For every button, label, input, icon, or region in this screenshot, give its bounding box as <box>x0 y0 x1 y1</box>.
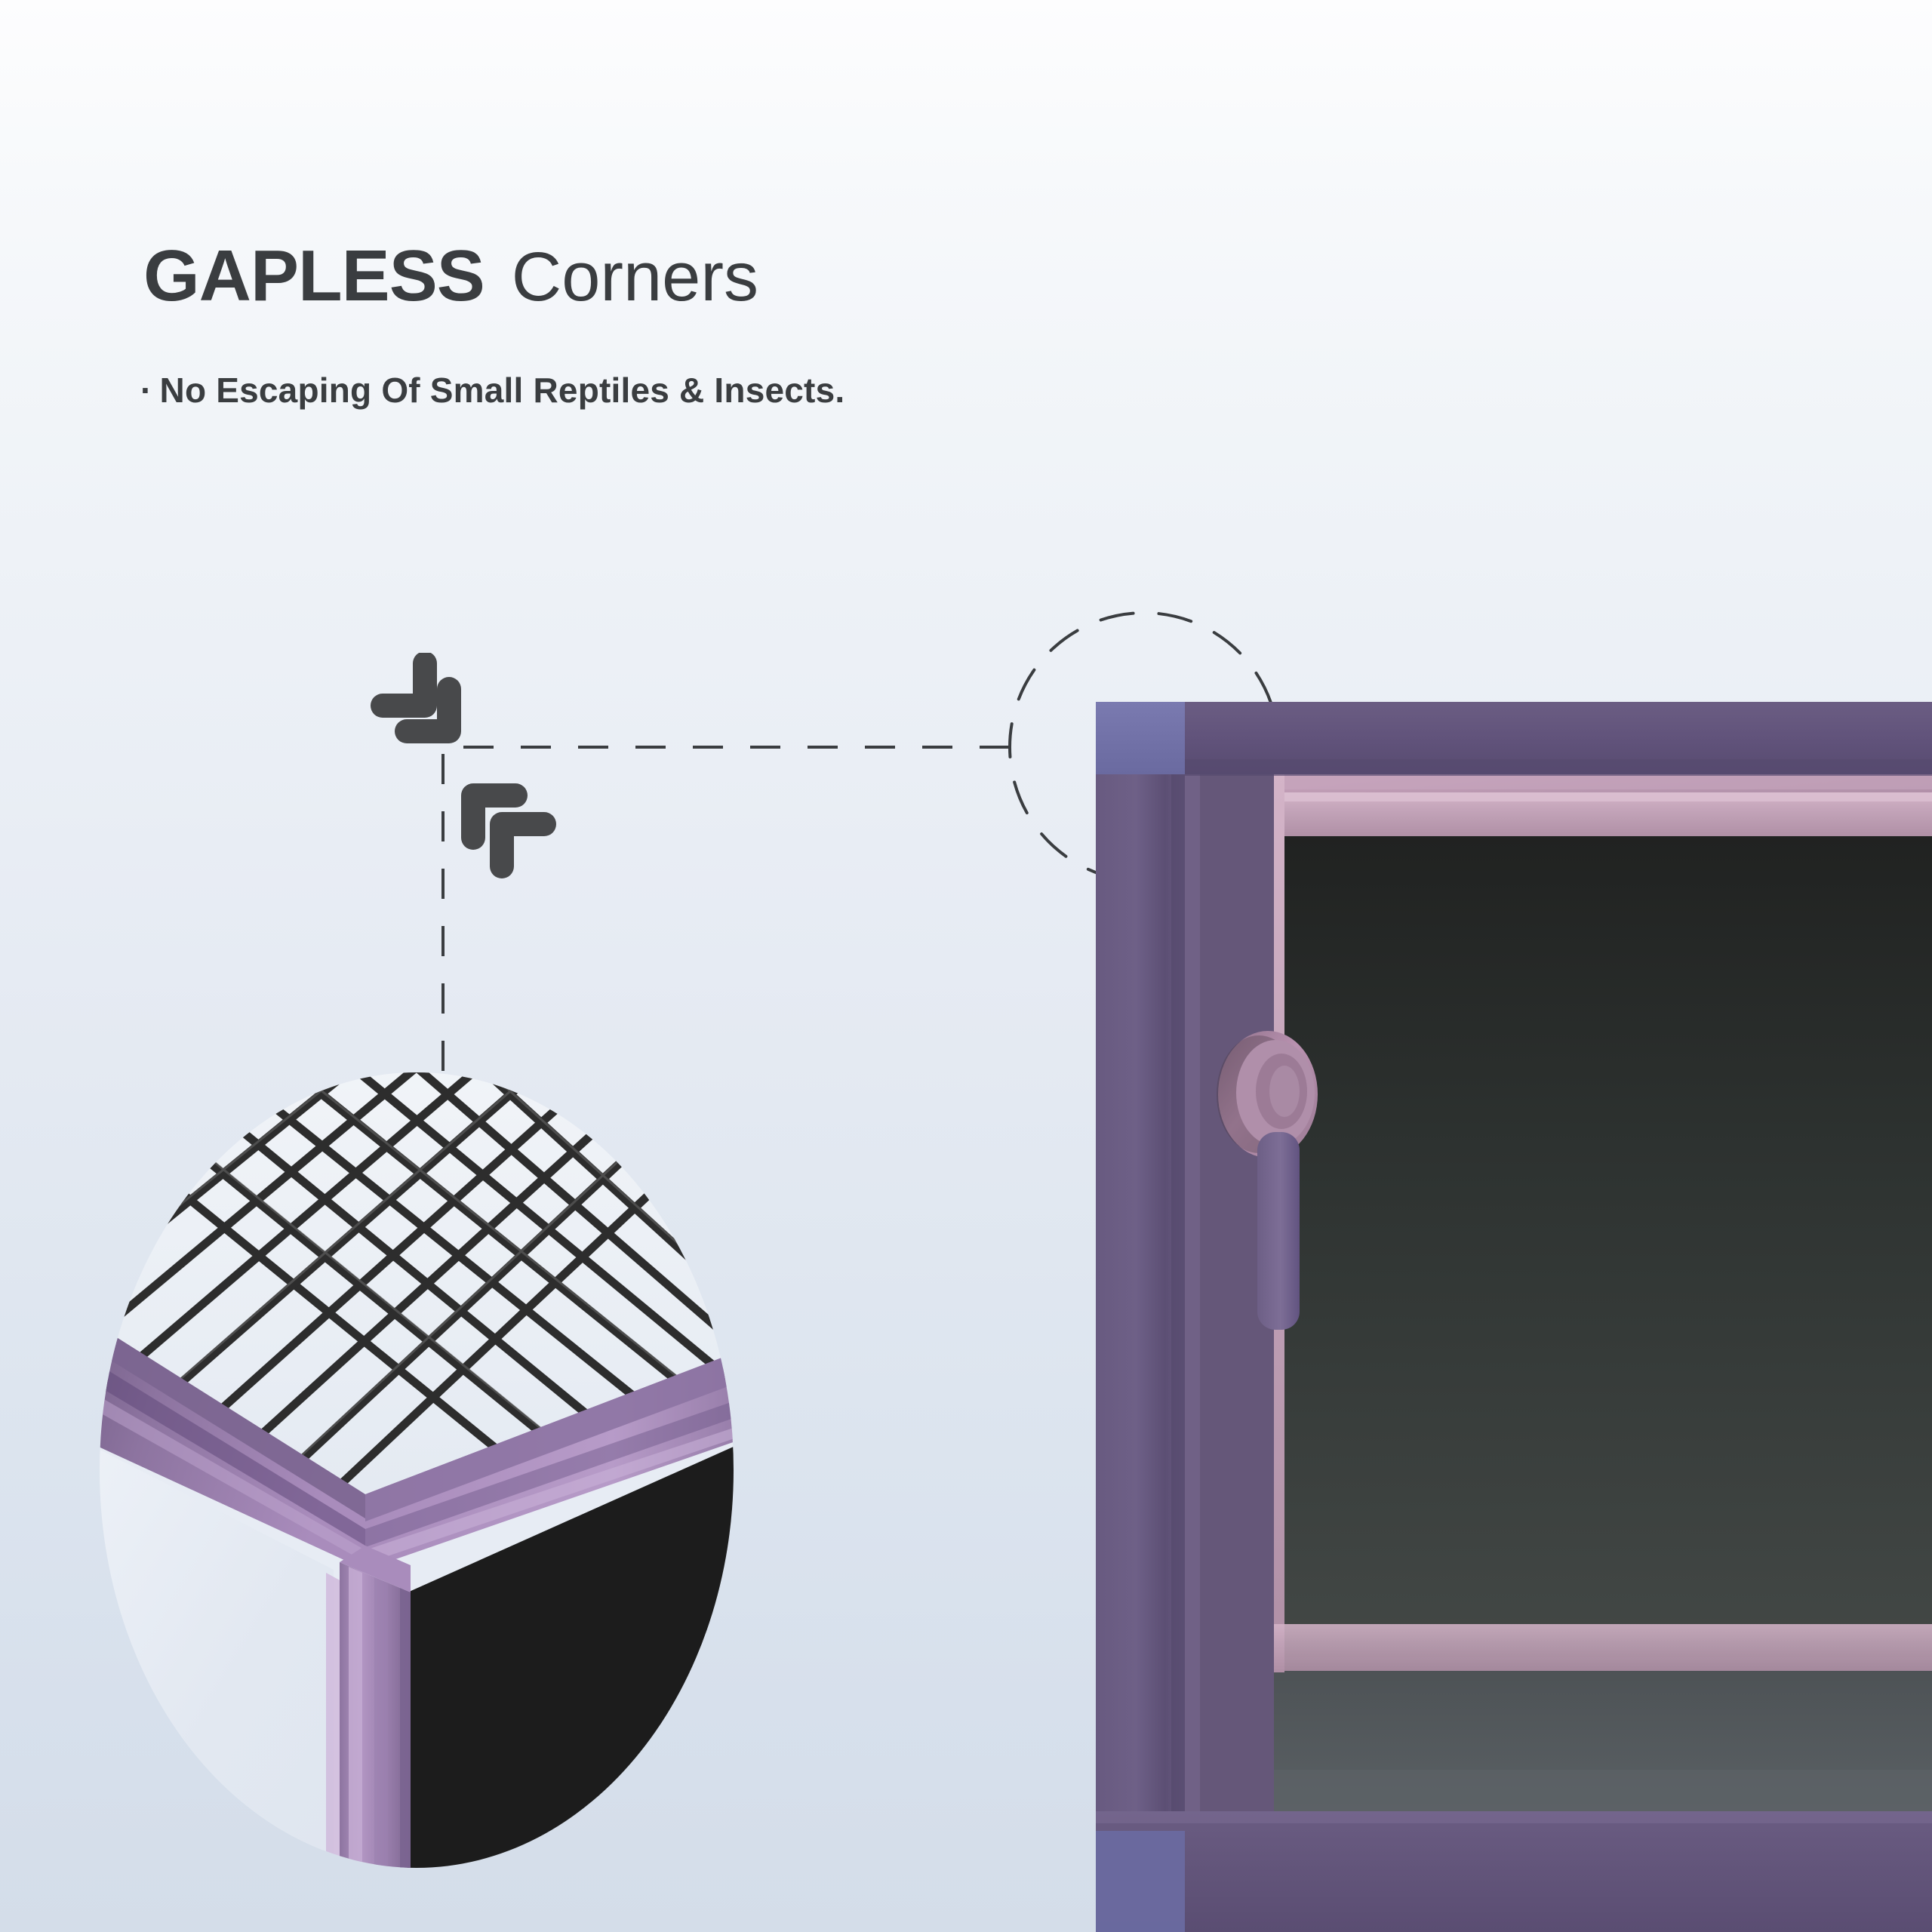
corner-bracket-pair-lower <box>457 777 585 894</box>
inner-frame-top-rail-highlight <box>1284 792 1932 801</box>
enclosure-floor-front-band <box>1185 1770 1932 1811</box>
detail-corner-post-hl1 <box>349 1567 362 1868</box>
corner-bracket-top-left-icon-offset <box>502 824 544 866</box>
outer-frame-bottom-rail-bevel <box>1096 1811 1932 1823</box>
corner-bracket-pair-upper <box>366 653 494 762</box>
outer-frame-left-post-edge <box>1171 702 1185 1932</box>
latch-lever-arm[interactable] <box>1257 1132 1300 1330</box>
product-feature-slide: GAPLESSCorners ·No Escaping Of Small Rep… <box>0 0 1932 1932</box>
latch-rosette-hub <box>1269 1066 1300 1117</box>
enclosure-interior-backwall <box>1269 774 1932 1657</box>
detail-corner-post-hl2 <box>374 1577 388 1868</box>
corner-block-top-left <box>1096 702 1185 774</box>
corner-bracket-bottom-right-icon <box>383 663 425 706</box>
detail-corner-post-edge <box>400 1588 411 1868</box>
outer-frame-bottom-rail <box>1096 1811 1932 1932</box>
gapless-corner-detail <box>100 1072 734 1868</box>
outer-frame-top-rail-bevel <box>1185 759 1932 776</box>
corner-block-bottom-left <box>1096 1831 1185 1932</box>
reptile-enclosure <box>1096 702 1932 1932</box>
inner-frame-bottom-rail <box>1269 1624 1932 1671</box>
outer-frame-door-stile-highlight <box>1185 770 1200 1811</box>
